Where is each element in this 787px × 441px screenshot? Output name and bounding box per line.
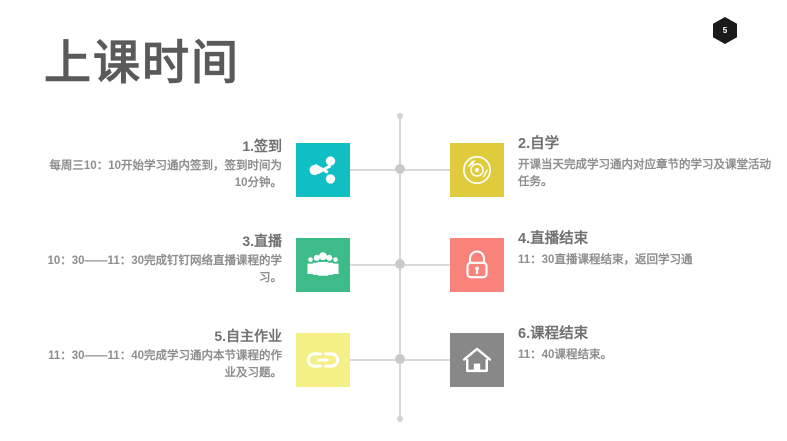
- timeline-item-2-icon-box[interactable]: [450, 143, 504, 197]
- timeline-item-1-icon-box[interactable]: [296, 143, 350, 197]
- timeline-item-2-text: 2.自学 开课当天完成学习通内对应章节的学习及课堂活动任务。: [518, 135, 776, 191]
- page-title: 上课时间: [44, 36, 240, 90]
- page-number-label: 5: [723, 27, 727, 35]
- timeline-item-3-text: 3.直播 10：30——11：30完成钉钉网络直播课程的学习。: [37, 232, 282, 287]
- timeline-item-1-title: 1.签到: [37, 137, 282, 156]
- timeline-row-2: 3.直播 10：30——11：30完成钉钉网络直播课程的学习。: [0, 236, 787, 292]
- timeline-item-6-icon-box[interactable]: [450, 333, 504, 387]
- timeline-item-6-title: 6.课程结束: [518, 325, 776, 345]
- timeline-item-3-title: 3.直播: [37, 232, 282, 251]
- timeline-item-4-text: 4.直播结束 11：30直播课程结束，返回学习通: [518, 230, 776, 269]
- timeline-item-5-desc: 11：30——11：40完成学习通内本节课程的作业及习题。: [37, 348, 282, 383]
- timeline-item-5-text: 5.自主作业 11：30——11：40完成学习通内本节课程的作业及习题。: [37, 327, 282, 382]
- group-people-icon: [306, 250, 340, 280]
- timeline-item-6-text: 6.课程结束 11：40课程结束。: [518, 325, 776, 364]
- timeline-node-bottom: [397, 416, 403, 422]
- timeline-item-4-desc: 11：30直播课程结束，返回学习通: [518, 252, 776, 269]
- timeline-item-3-icon-box[interactable]: [296, 238, 350, 292]
- lock-icon: [463, 249, 491, 281]
- share-icon: [308, 155, 338, 185]
- timeline-row-1: 1.签到 每周三10：10开始学习通内签到，签到时间为10分钟。: [0, 141, 787, 197]
- timeline-item-4-icon-box[interactable]: [450, 238, 504, 292]
- timeline-item-2-desc: 开课当天完成学习通内对应章节的学习及课堂活动任务。: [518, 157, 776, 192]
- timeline-row-3: 5.自主作业 11：30——11：40完成学习通内本节课程的作业及习题。: [0, 331, 787, 387]
- vinyl-record-icon: [461, 154, 493, 186]
- timeline-item-5-title: 5.自主作业: [37, 327, 282, 346]
- timeline-item-2-title: 2.自学: [518, 135, 776, 155]
- home-icon: [461, 345, 493, 375]
- timeline-item-5-icon-box[interactable]: [296, 333, 350, 387]
- timeline-item-1-text: 1.签到 每周三10：10开始学习通内签到，签到时间为10分钟。: [37, 137, 282, 192]
- timeline-node-top: [397, 113, 403, 119]
- timeline-item-3-desc: 10：30——11：30完成钉钉网络直播课程的学习。: [37, 253, 282, 288]
- slide-canvas: 上课时间 5 1.签到 每周三10：10开始学习通内签到，签到时间为10分钟。: [0, 0, 787, 441]
- chain-link-icon: [305, 350, 341, 370]
- page-number-badge: 5: [713, 17, 737, 44]
- timeline-item-6-desc: 11：40课程结束。: [518, 347, 776, 364]
- timeline-item-4-title: 4.直播结束: [518, 230, 776, 250]
- timeline-item-1-desc: 每周三10：10开始学习通内签到，签到时间为10分钟。: [37, 158, 282, 193]
